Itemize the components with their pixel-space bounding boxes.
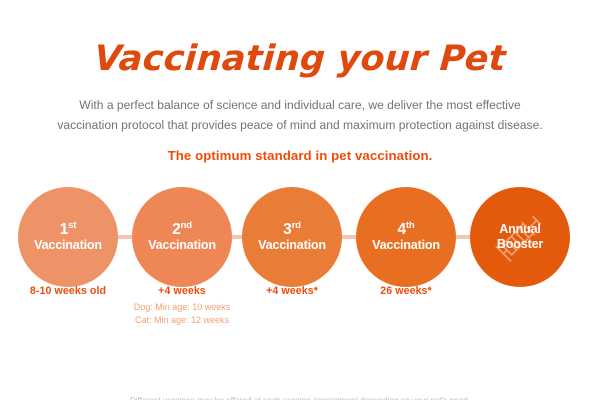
caption-node-2-sub-line-2: Cat: Min age: 12 weeks [107, 314, 257, 327]
footnote-line-1: Different vaccines may be offered at eac… [0, 394, 600, 400]
timeline-node-annual-booster[interactable]: Annual Booster [470, 187, 570, 287]
timeline-node-5-label: Annual Booster [497, 222, 543, 252]
timeline-node-3-label: 3rd Vaccination [258, 221, 326, 253]
timeline-node-5-text-line-2: Booster [497, 237, 543, 251]
timeline-node-2-text: Vaccination [148, 238, 216, 252]
timeline-node-3rd-vaccination[interactable]: 3rd Vaccination [242, 187, 342, 287]
timeline-node-1-ordinal: 1st [34, 221, 102, 238]
timeline-node-5-text-line-1: Annual [499, 222, 540, 236]
vaccination-timeline: 1st Vaccination 2nd Vaccination 3rd Vacc… [0, 177, 600, 281]
footnotes: Different vaccines may be offered at eac… [0, 394, 600, 400]
tagline: The optimum standard in pet vaccination. [0, 148, 600, 163]
timeline-node-1-label: 1st Vaccination [34, 221, 102, 253]
timeline-node-4-ordinal: 4th [372, 221, 440, 238]
timeline-node-4-label: 4th Vaccination [372, 221, 440, 253]
timeline-node-3-text: Vaccination [258, 238, 326, 252]
timeline-node-2-ordinal: 2nd [148, 221, 216, 238]
caption-node-2-sub: Dog: Min age: 10 weeks Cat: Min age: 12 … [107, 301, 257, 327]
caption-node-2-sub-line-1: Dog: Min age: 10 weeks [107, 301, 257, 314]
timeline-node-1-text: Vaccination [34, 238, 102, 252]
timeline-node-4th-vaccination[interactable]: 4th Vaccination [356, 187, 456, 287]
timeline-node-1st-vaccination[interactable]: 1st Vaccination [18, 187, 118, 287]
intro-line-2: vaccination protocol that provides peace… [28, 115, 572, 135]
intro-paragraph: With a perfect balance of science and in… [0, 95, 600, 135]
page-title: Vaccinating your Pet [0, 42, 600, 77]
timeline-captions: 8-10 weeks old +4 weeks Dog: Min age: 10… [0, 285, 600, 341]
timeline-node-3-ordinal: 3rd [258, 221, 326, 238]
timeline-node-4-text: Vaccination [372, 238, 440, 252]
intro-line-1: With a perfect balance of science and in… [28, 95, 572, 115]
timeline-node-2-label: 2nd Vaccination [148, 221, 216, 253]
timeline-node-2nd-vaccination[interactable]: 2nd Vaccination [132, 187, 232, 287]
